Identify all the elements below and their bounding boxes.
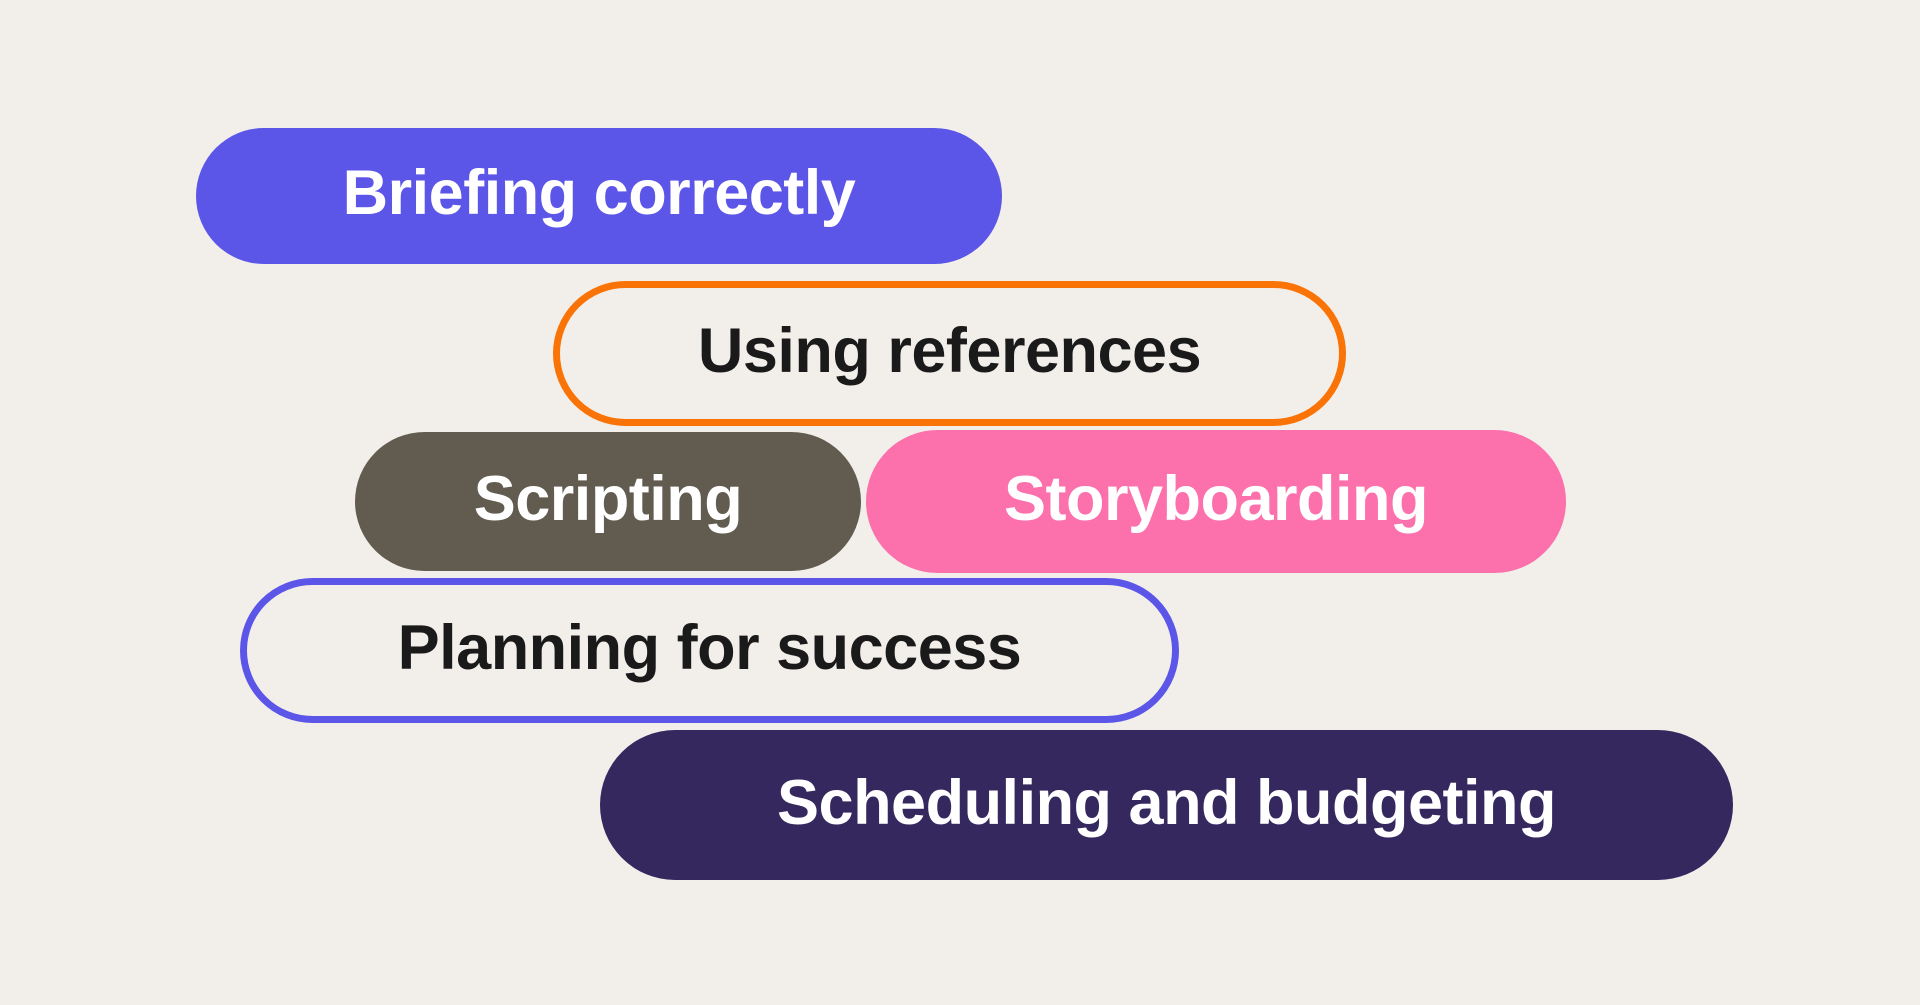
pill-storyboarding[interactable]: Storyboarding: [866, 430, 1566, 573]
pill-cloud-canvas: Briefing correctly Using references Scri…: [0, 0, 1920, 1005]
pill-storyboarding-label: Storyboarding: [1004, 468, 1428, 531]
pill-using-references[interactable]: Using references: [553, 281, 1346, 426]
pill-scheduling-and-budgeting-label: Scheduling and budgeting: [777, 772, 1556, 835]
pill-briefing-correctly[interactable]: Briefing correctly: [196, 128, 1002, 264]
pill-planning-for-success-label: Planning for success: [398, 617, 1022, 680]
pill-scheduling-and-budgeting[interactable]: Scheduling and budgeting: [600, 730, 1733, 880]
pill-scripting-label: Scripting: [474, 468, 743, 531]
pill-using-references-label: Using references: [698, 320, 1201, 383]
pill-scripting[interactable]: Scripting: [355, 432, 861, 571]
pill-planning-for-success[interactable]: Planning for success: [240, 578, 1179, 723]
pill-briefing-correctly-label: Briefing correctly: [343, 162, 856, 225]
